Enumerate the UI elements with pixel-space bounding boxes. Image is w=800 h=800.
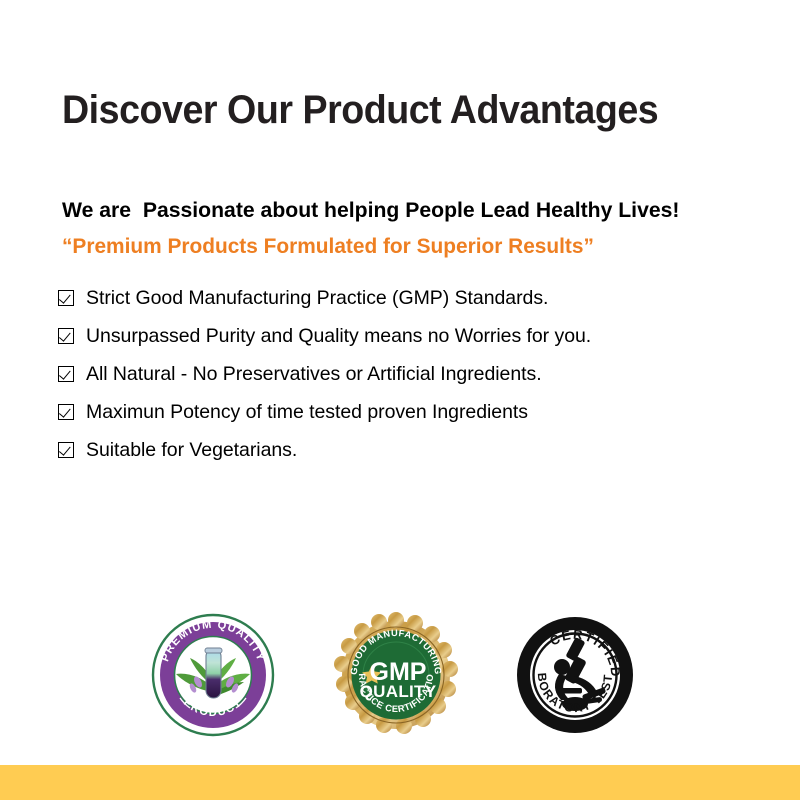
gmp-quality-seal-icon: GMP QUALITY GOOD MANUFACTURING PRACTICE … (333, 612, 459, 738)
list-item-label: Suitable for Vegetarians. (86, 439, 297, 461)
list-item-label: Maximun Potency of time tested proven In… (86, 401, 528, 423)
checked-box-icon (58, 366, 74, 382)
list-item: All Natural - No Preservatives or Artifi… (58, 363, 758, 401)
page-title: Discover Our Product Advantages (62, 88, 658, 133)
list-item-label: Strict Good Manufacturing Practice (GMP)… (86, 287, 548, 309)
laboratory-tested-badge: CERTIFIED LABORATORY TESTED (512, 612, 638, 738)
list-item: Maximun Potency of time tested proven In… (58, 401, 758, 439)
list-item: Unsurpassed Purity and Quality means no … (58, 325, 758, 363)
tagline-secondary: “Premium Products Formulated for Superio… (62, 234, 594, 259)
premium-quality-seal-icon: PREMIUM QUALITY PRODUCT (150, 612, 276, 738)
list-item-label: Unsurpassed Purity and Quality means no … (86, 325, 591, 347)
certification-badges: PREMIUM QUALITY PRODUCT (0, 612, 800, 744)
checked-box-icon (58, 442, 74, 458)
list-item-label: All Natural - No Preservatives or Artifi… (86, 363, 542, 385)
list-item: Strict Good Manufacturing Practice (GMP)… (58, 287, 758, 325)
benefits-list: Strict Good Manufacturing Practice (GMP)… (58, 287, 758, 477)
tagline-primary: We are Passionate about helping People L… (62, 198, 679, 223)
premium-quality-badge: PREMIUM QUALITY PRODUCT (150, 612, 276, 738)
checked-box-icon (58, 290, 74, 306)
checked-box-icon (58, 404, 74, 420)
laboratory-tested-stamp-icon: CERTIFIED LABORATORY TESTED (512, 612, 638, 738)
gmp-quality-badge: GMP QUALITY GOOD MANUFACTURING PRACTICE … (333, 612, 459, 738)
list-item: Suitable for Vegetarians. (58, 439, 758, 477)
checked-box-icon (58, 328, 74, 344)
bottom-accent-bar (0, 765, 800, 800)
product-advantages-infographic: Discover Our Product Advantages We are P… (0, 0, 800, 800)
